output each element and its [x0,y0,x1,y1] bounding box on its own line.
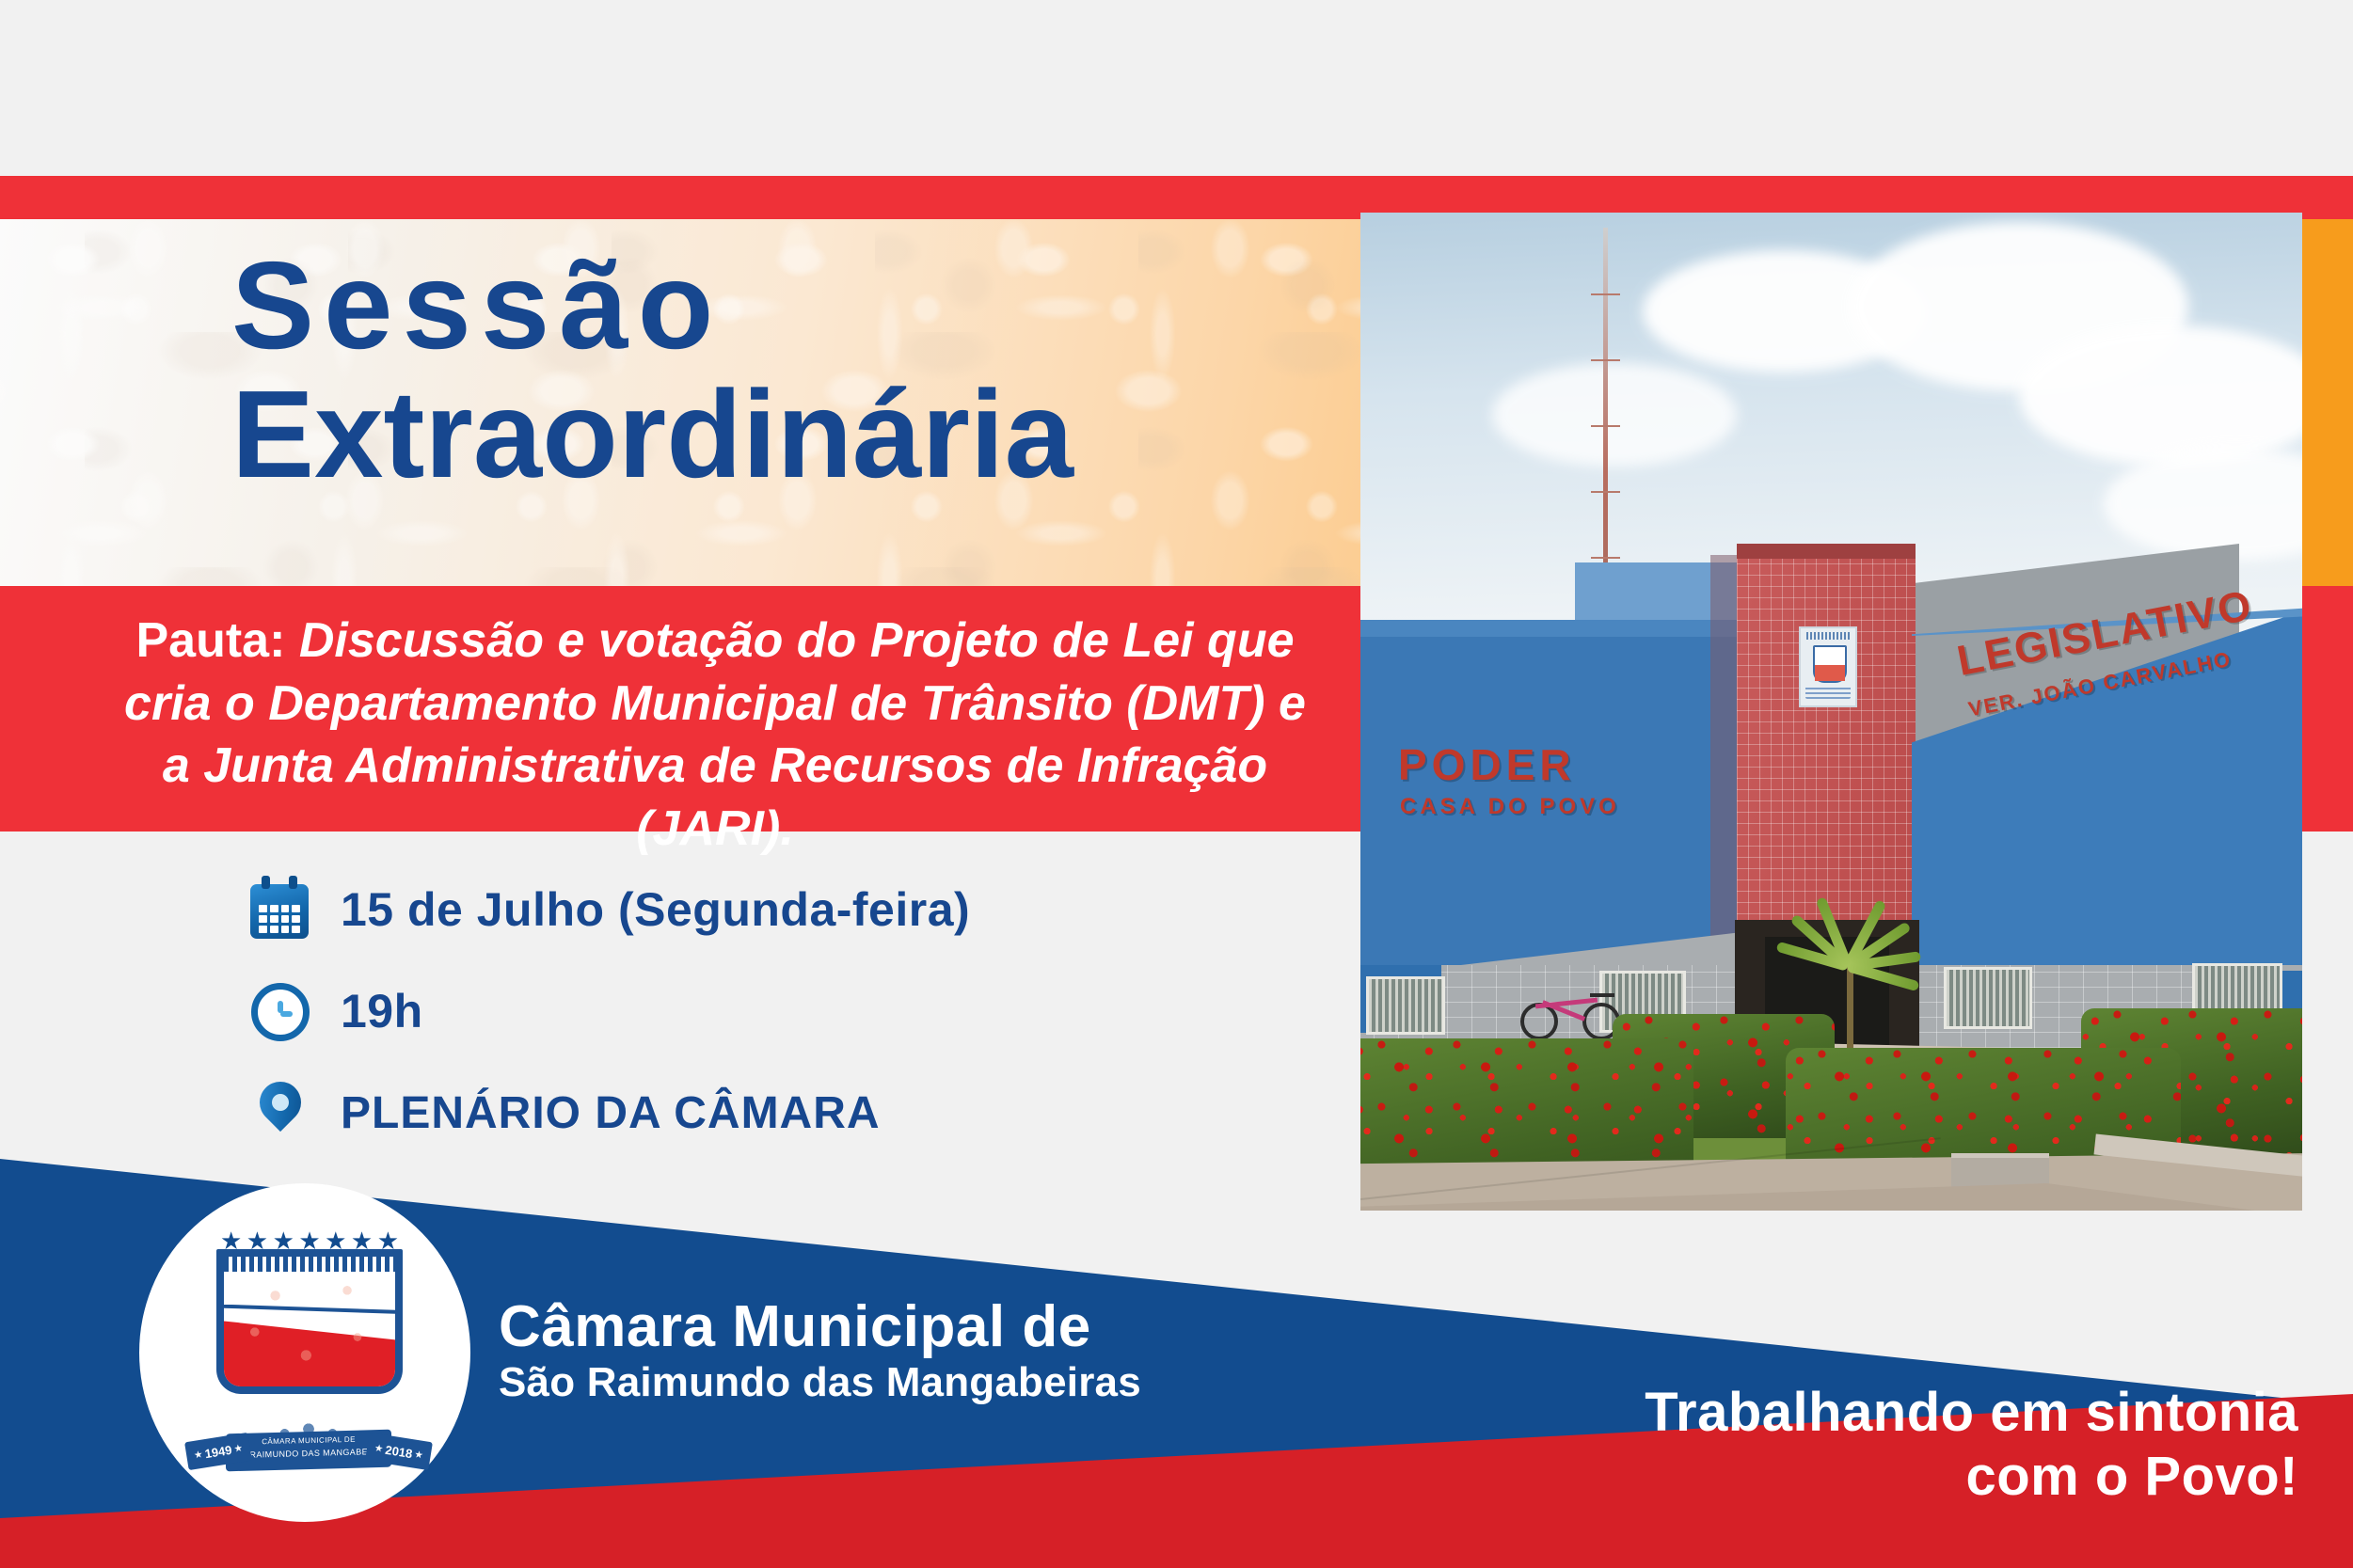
coat-of-arms: ★ ★ ★ ★ ★ ★ ★ CÂMARA MUNICIPAL DE SÃO RA… [184,1228,433,1492]
top-spacer-band [0,0,2353,176]
tagline: Trabalhando em sintonia com o Povo! [1645,1381,2298,1510]
year-founded: 1949 [204,1442,233,1460]
brand-line-2: São Raimundo das Mangabeiras [499,1358,1141,1407]
title-line-2: Extraordinária [231,370,1360,499]
tower-cap [1737,544,1916,559]
coat-of-arms-plaque-icon [1799,626,1857,707]
right-orange-bar [2302,219,2353,586]
title-line-1: Sessão [231,241,1360,370]
star-icon: ★ [194,1449,203,1460]
shield-banner: CÂMARA MUNICIPAL DE SÃO RAIMUNDO DAS MAN… [184,1413,433,1484]
detail-time-value: 19h [341,984,423,1038]
window [1944,967,2032,1029]
agenda-text-block: Pauta: Discussão e votação do Projeto de… [113,610,1317,860]
clock-icon [246,976,316,1046]
location-pin-icon [246,1078,316,1148]
cloud [1492,363,1737,467]
shield [216,1249,403,1394]
detail-row-time: 19h [246,976,1281,1046]
building-photo: PODER CASA DO POVO LEGISLATIVO VER. JOÃO… [1360,213,2302,1211]
tagline-line-2: com o Povo! [1645,1445,2298,1509]
shield-scrollwork [224,1257,395,1386]
detail-row-location: PLENÁRIO DA CÂMARA [246,1078,1281,1148]
bicycle [1520,990,1626,1042]
window [1366,976,1445,1035]
page-title: Sessão Extraordinária [231,241,1360,499]
detail-row-date: 15 de Julho (Segunda-feira) [246,875,1281,944]
agenda-body: Discussão e votação do Projeto de Lei qu… [124,613,1306,856]
detail-date-value: 15 de Julho (Segunda-feira) [341,882,970,937]
calendar-icon [246,875,316,944]
tagline-line-1: Trabalhando em sintonia [1645,1381,2298,1445]
star-icon: ★ [233,1443,243,1454]
star-icon: ★ [414,1449,423,1460]
sign-poder: PODER [1398,739,1576,790]
detail-location-value: PLENÁRIO DA CÂMARA [341,1087,881,1139]
right-red-bar [2302,586,2353,832]
event-poster: Sessão Extraordinária Pauta: Discussão e… [0,0,2353,1568]
brand-block: Câmara Municipal de São Raimundo das Man… [499,1296,1141,1407]
star-icon: ★ [374,1443,384,1454]
brand-line-1: Câmara Municipal de [499,1296,1141,1358]
event-details-list: 15 de Julho (Segunda-feira) 19h PLENÁRIO… [246,875,1281,1180]
agenda-label: Pauta: [136,613,286,668]
year-current: 2018 [385,1442,414,1460]
sign-casa-do-povo: CASA DO POVO [1400,794,1620,820]
